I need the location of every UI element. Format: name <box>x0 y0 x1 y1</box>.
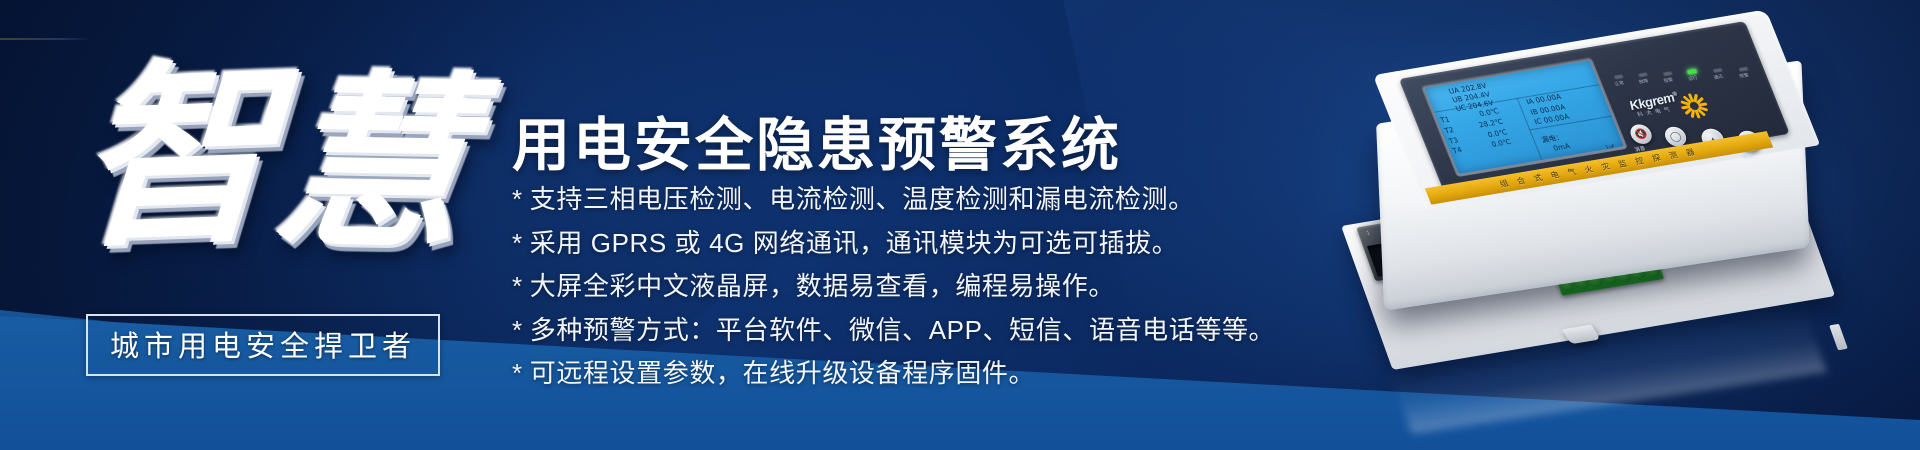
lcd-screen: UA 202.8V UB 204.4V UC 204.6V T1T2T3T4 0… <box>1424 60 1623 173</box>
connector-number: 1 <box>1366 231 1371 237</box>
led-comm <box>1713 68 1723 73</box>
list-item-text: 可远程设置参数，在线升级设备程序固件。 <box>530 358 1035 388</box>
calligraphy-block: 智 慧 <box>78 22 498 292</box>
list-item: *采用 GPRS 或 4G 网络通讯，通讯模块为可选可插拔。 <box>512 224 1275 264</box>
lcd-unit: 1uF <box>1605 144 1617 152</box>
led-indicator-row: 正常 故障 报警 运行 通讯 预警 <box>1610 42 1778 95</box>
page-title: 用电安全隐患预警系统 <box>512 98 1122 182</box>
calligraphy-char-zhi: 智 <box>73 56 276 259</box>
device-body: 1 2 3 电 源 电 流 测 测 开 入 <box>1356 0 1865 390</box>
bullet-marker-icon: * <box>512 315 523 345</box>
led-label-comm: 通讯 <box>1713 74 1724 81</box>
decorative-line <box>0 38 90 40</box>
mute-icon: 🔇 <box>1633 128 1649 141</box>
bullet-marker-icon: * <box>512 184 523 214</box>
mute-button[interactable]: 🔇 <box>1627 123 1654 145</box>
calligraphy-char-hui: 慧 <box>265 68 475 259</box>
led-normal <box>1613 74 1623 79</box>
product-image: 1 2 3 电 源 电 流 测 测 开 入 <box>1320 14 1920 414</box>
bullet-marker-icon: * <box>512 271 523 301</box>
list-item: *多种预警方式：平台软件、微信、APP、短信、语音电话等等。 <box>512 311 1275 351</box>
sunburst-icon <box>1676 91 1711 120</box>
tagline-text: 城市用电安全捍卫者 <box>110 323 416 365</box>
led-fault <box>1638 72 1648 77</box>
led-label-alarm: 报警 <box>1663 77 1674 84</box>
led-label-prewarn: 预警 <box>1739 73 1750 80</box>
list-item-text: 采用 GPRS 或 4G 网络通讯，通讯模块为可选可插拔。 <box>530 228 1179 258</box>
bullet-marker-icon: * <box>512 358 523 388</box>
tagline-box: 城市用电安全捍卫者 <box>86 314 440 376</box>
led-label-run: 运行 <box>1687 75 1698 82</box>
list-item: *大屏全彩中文液晶屏，数据易查看，编程易操作。 <box>512 267 1275 307</box>
list-item-text: 大屏全彩中文液晶屏，数据易查看，编程易操作。 <box>530 271 1115 301</box>
list-item: *支持三相电压检测、电流检测、温度检测和漏电流检测。 <box>512 180 1275 220</box>
list-item-text: 支持三相电压检测、电流检测、温度检测和漏电流检测。 <box>530 184 1195 214</box>
led-alarm <box>1663 71 1673 76</box>
reset-icon: ◯ <box>1668 130 1683 142</box>
led-prewarn <box>1738 67 1748 72</box>
led-run <box>1687 69 1697 74</box>
led-label-fault: 故障 <box>1638 78 1649 85</box>
list-item-text: 多种预警方式：平台软件、微信、APP、短信、语音电话等等。 <box>530 315 1275 345</box>
list-item: *可远程设置参数，在线升级设备程序固件。 <box>512 354 1275 394</box>
led-label-normal: 正常 <box>1614 80 1625 87</box>
feature-list: *支持三相电压检测、电流检测、温度检测和漏电流检测。 *采用 GPRS 或 4G… <box>512 180 1275 394</box>
promo-banner: 智 慧 城市用电安全捍卫者 用电安全隐患预警系统 *支持三相电压检测、电流检测、… <box>0 0 1920 450</box>
bullet-marker-icon: * <box>512 228 523 258</box>
